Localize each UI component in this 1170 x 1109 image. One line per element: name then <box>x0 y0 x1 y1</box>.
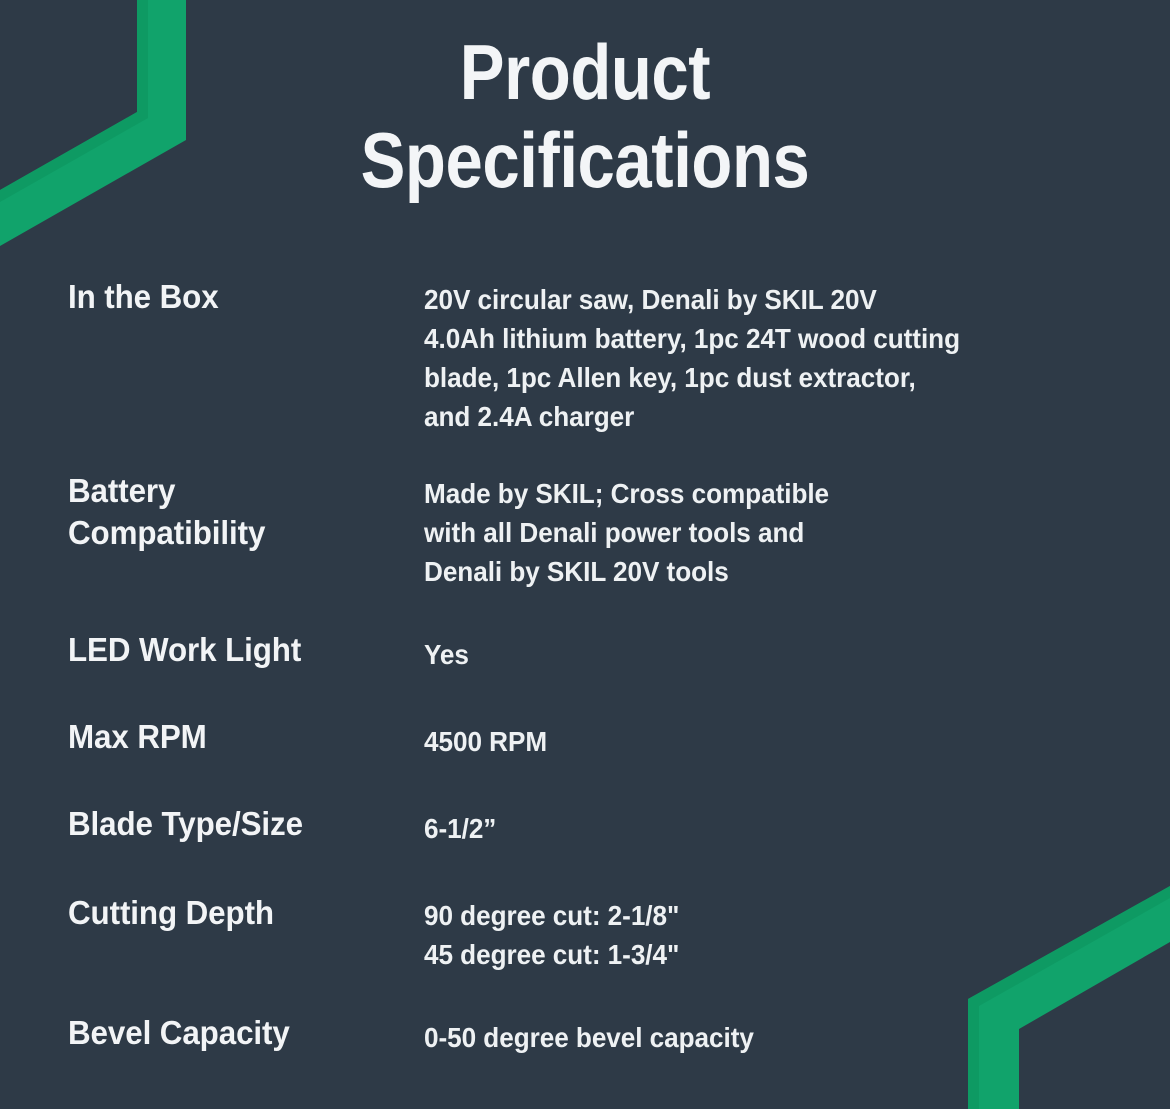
spec-row-battery-compatibility: Battery Compatibility Made by SKIL; Cros… <box>68 470 1128 591</box>
spec-row-led-work-light: LED Work Light Yes <box>68 629 1128 674</box>
spec-row-blade-type-size: Blade Type/Size 6-1/2” <box>68 803 1128 848</box>
page-title-line-1: Product <box>82 28 1088 116</box>
spec-value-max-rpm: 4500 RPM <box>424 716 1093 761</box>
page-title-line-2: Specifications <box>82 116 1088 204</box>
specifications-table: In the Box 20V circular saw, Denali by S… <box>68 276 1128 1057</box>
spec-value-cutting-depth: 90 degree cut: 2-1/8" 45 degree cut: 1-3… <box>424 892 1093 974</box>
product-specifications-poster: Product Specifications In the Box 20V ci… <box>0 0 1170 1109</box>
spec-label-bevel-capacity: Bevel Capacity <box>68 1012 406 1054</box>
spec-value-battery-compatibility: Made by SKIL; Cross compatible with all … <box>424 470 1093 591</box>
spec-value-blade-type-size: 6-1/2” <box>424 803 1093 848</box>
page-title: Product Specifications <box>0 28 1170 204</box>
spec-value-bevel-capacity: 0-50 degree bevel capacity <box>424 1012 1093 1057</box>
spec-row-max-rpm: Max RPM 4500 RPM <box>68 716 1128 761</box>
spec-row-bevel-capacity: Bevel Capacity 0-50 degree bevel capacit… <box>68 1012 1128 1057</box>
spec-label-battery-compatibility: Battery Compatibility <box>68 470 406 554</box>
spec-value-in-the-box: 20V circular saw, Denali by SKIL 20V 4.0… <box>424 276 1093 436</box>
spec-label-max-rpm: Max RPM <box>68 716 406 758</box>
spec-value-led-work-light: Yes <box>424 629 1093 674</box>
spec-label-cutting-depth: Cutting Depth <box>68 892 406 934</box>
spec-label-blade-type-size: Blade Type/Size <box>68 803 406 845</box>
spec-row-in-the-box: In the Box 20V circular saw, Denali by S… <box>68 276 1128 436</box>
spec-row-cutting-depth: Cutting Depth 90 degree cut: 2-1/8" 45 d… <box>68 892 1128 974</box>
spec-label-led-work-light: LED Work Light <box>68 629 406 671</box>
spec-label-in-the-box: In the Box <box>68 276 406 318</box>
